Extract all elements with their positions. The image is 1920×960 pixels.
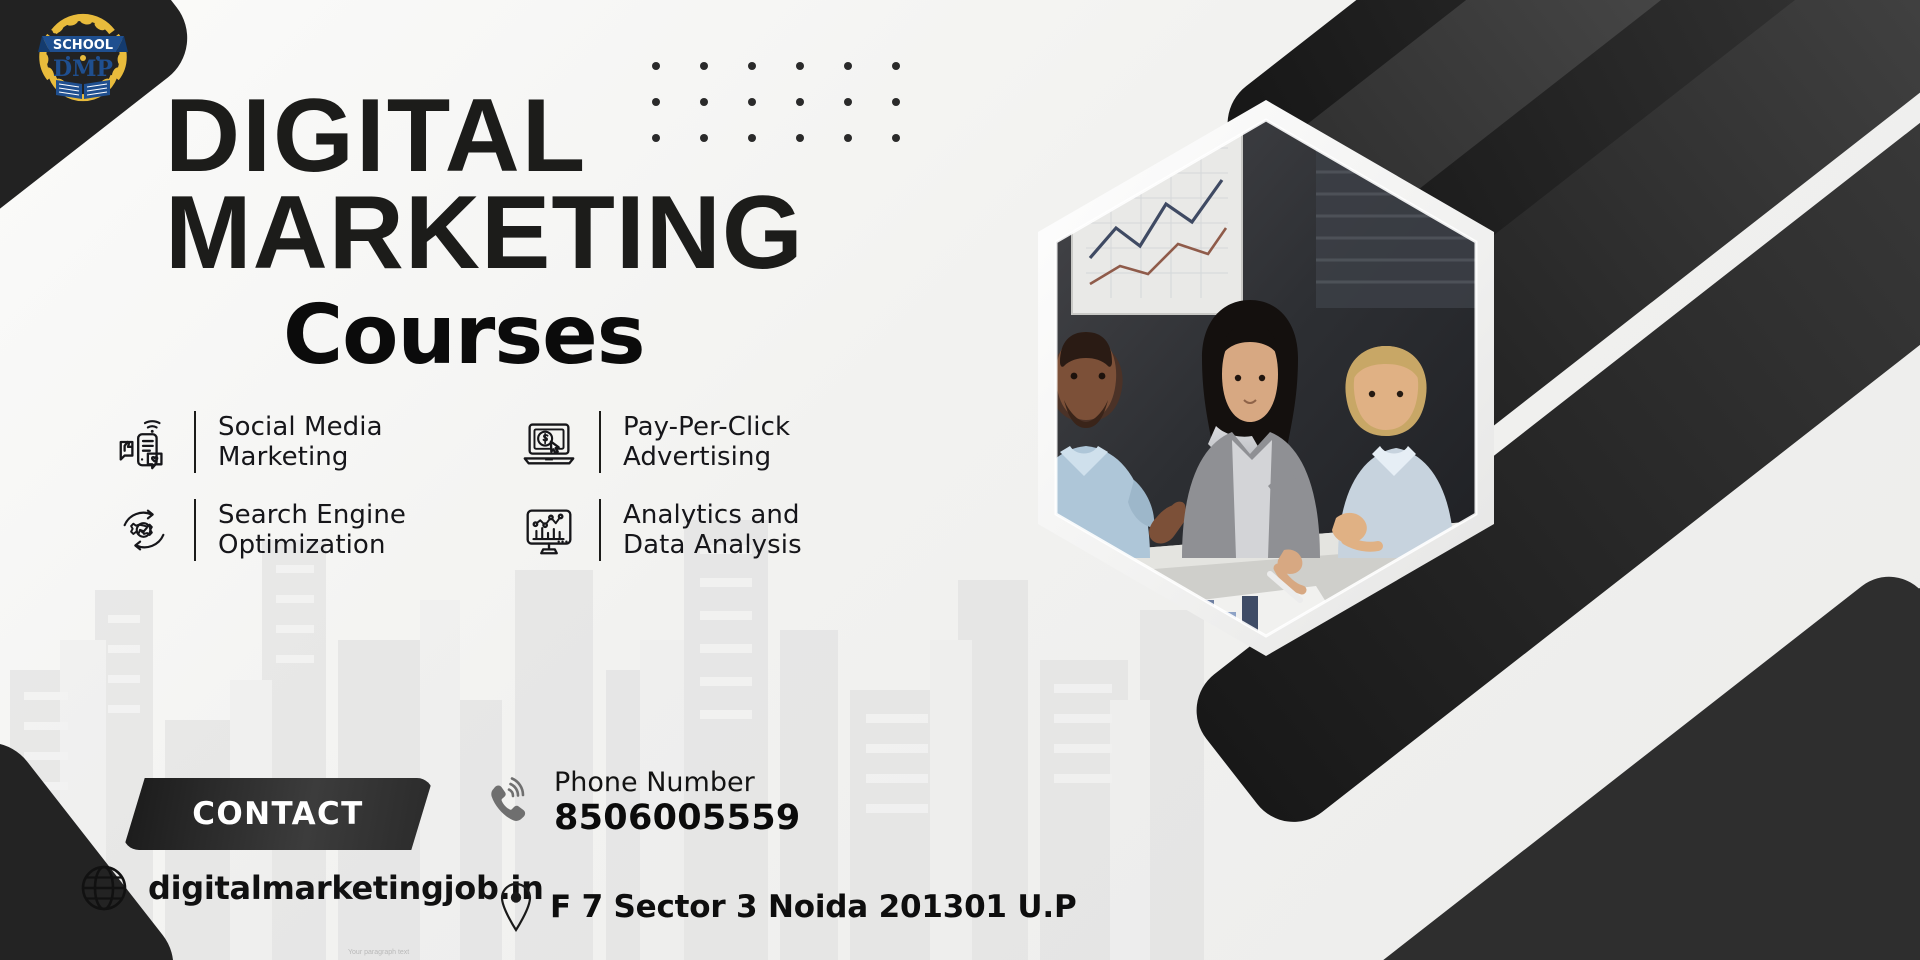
service-label-line-2: Optimization	[218, 530, 406, 560]
service-label-line-1: Social Media	[218, 412, 383, 442]
services-list: Social Media Marketing Pay-	[108, 408, 898, 564]
service-label-line-1: Pay-Per-Click	[623, 412, 790, 442]
service-divider	[599, 499, 601, 561]
address-row[interactable]: F 7 Sector 3 Noida 201301 U.P	[496, 880, 1076, 934]
service-item-analytics-and-data-analysis: Analytics and Data Analysis	[513, 496, 898, 564]
service-divider	[194, 499, 196, 561]
headline-line-2: MARKETING	[165, 185, 925, 282]
phone-number: 8506005559	[554, 798, 801, 838]
contact-button[interactable]: CONTACT	[123, 778, 433, 850]
service-label-line-1: Analytics and	[623, 500, 802, 530]
service-label: Analytics and Data Analysis	[623, 500, 802, 561]
headline-line-1: DIGITAL	[165, 88, 925, 185]
logo-dmp-text: DMP	[53, 56, 113, 82]
brand-logo[interactable]: SCHOOL DMP	[28, 6, 138, 102]
laptop-dollar-click-icon	[513, 408, 585, 476]
logo-school-text: SCHOOL	[53, 38, 113, 53]
school-crest-book-laurel-icon: SCHOOL DMP	[28, 6, 138, 102]
website-text: digitalmarketingjob.in	[148, 869, 544, 907]
phone-label: Phone Number	[554, 768, 801, 798]
service-label-line-2: Data Analysis	[623, 530, 802, 560]
service-item-pay-per-click-advertising: Pay-Per-Click Advertising	[513, 408, 898, 476]
service-label-line-2: Marketing	[218, 442, 383, 472]
monitor-bar-chart-icon	[513, 496, 585, 564]
service-label-line-2: Advertising	[623, 442, 790, 472]
team-photo	[1016, 88, 1516, 668]
phone-row[interactable]: Phone Number 8506005559	[482, 768, 801, 838]
footer-note: Your paragraph text	[348, 949, 409, 956]
phone-ringing-icon	[482, 776, 536, 830]
headline-block: DIGITAL MARKETING Courses	[165, 88, 925, 377]
contact-button-label: CONTACT	[192, 796, 363, 832]
headline-subtitle: Courses	[283, 295, 925, 377]
service-label: Pay-Per-Click Advertising	[623, 412, 790, 473]
gear-check-refresh-icon	[108, 496, 180, 564]
service-divider	[599, 411, 601, 473]
hexagon-photo	[1016, 88, 1516, 668]
location-pin-icon	[496, 880, 536, 934]
globe-icon	[78, 862, 130, 914]
service-divider	[194, 411, 196, 473]
service-item-search-engine-optimization: Search Engine Optimization	[108, 496, 493, 564]
service-label: Search Engine Optimization	[218, 500, 406, 561]
address-text: F 7 Sector 3 Noida 201301 U.P	[550, 889, 1076, 925]
service-label-line-1: Search Engine	[218, 500, 406, 530]
phone-text-block: Phone Number 8506005559	[554, 768, 801, 838]
service-label: Social Media Marketing	[218, 412, 383, 473]
marketing-banner: SCHOOL DMP DIGITAL MARKETING Courses	[0, 0, 1920, 960]
service-item-social-media-marketing: Social Media Marketing	[108, 408, 493, 476]
website-row[interactable]: digitalmarketingjob.in	[78, 862, 544, 914]
social-media-thumbs-up-icon	[108, 408, 180, 476]
